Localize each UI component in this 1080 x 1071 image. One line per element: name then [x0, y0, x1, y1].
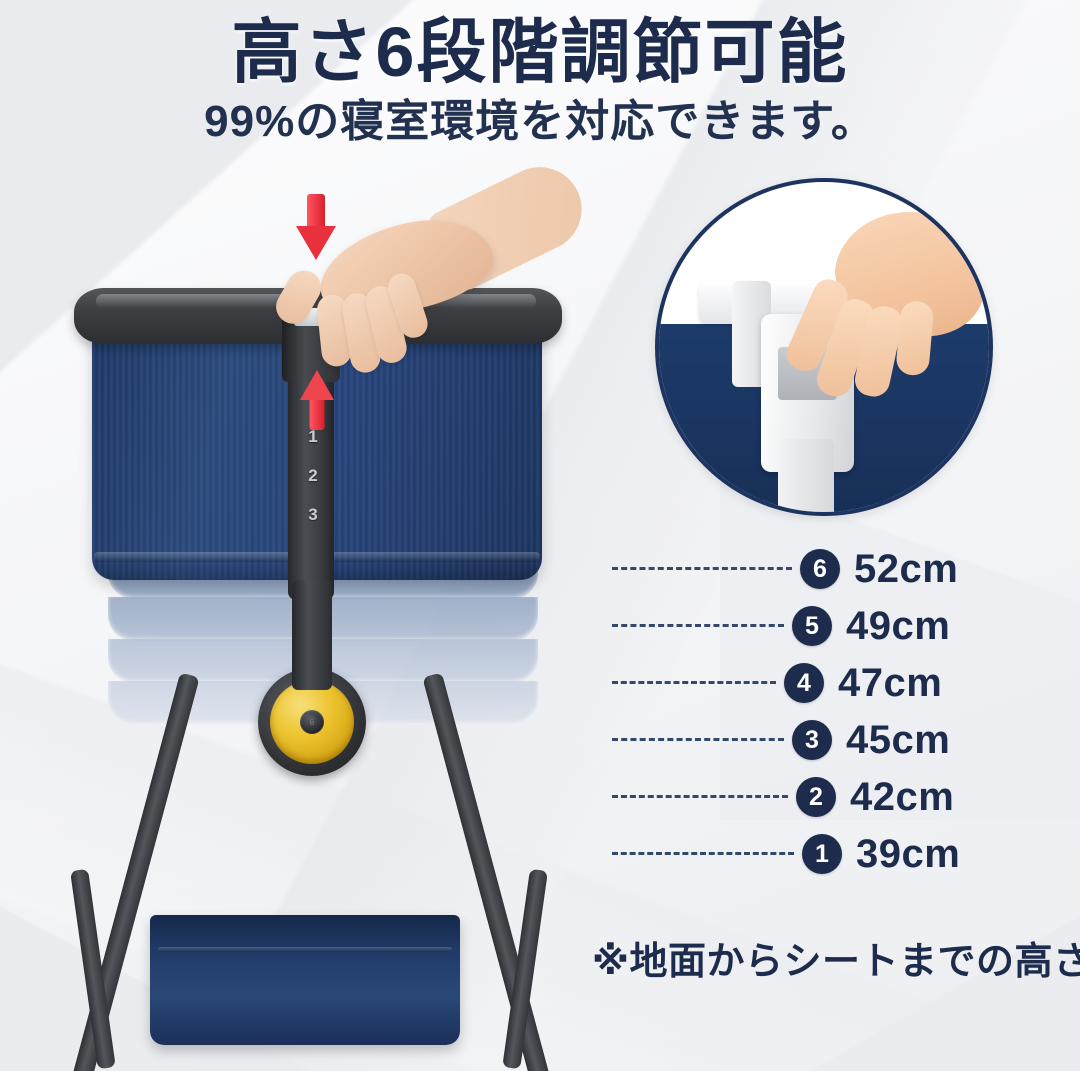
- step-badge: 5: [792, 606, 832, 646]
- measurement-row: 6 52cm: [612, 540, 1032, 597]
- step-badge: 2: [796, 777, 836, 817]
- pivot-hub-gold-disc: 6: [270, 680, 354, 764]
- height-value: 47cm: [838, 663, 942, 703]
- measurement-row: 4 47cm: [612, 654, 1032, 711]
- measurement-row: 3 45cm: [612, 711, 1032, 768]
- arrow-up-icon: [300, 370, 334, 430]
- leader-line: [612, 852, 794, 855]
- product-infographic: 高さ6段階調節可能 99%の寝室環境を対応できます。: [0, 0, 1080, 1071]
- product-photo: 1 2 3 6: [30, 180, 590, 1060]
- lever-step-marks: 1 2 3: [298, 428, 328, 545]
- step-badge: 1: [802, 834, 842, 874]
- measurement-row: 5 49cm: [612, 597, 1032, 654]
- inset-finger-pinky: [895, 300, 934, 377]
- height-measurement-list: 6 52cm 5 49cm 4 47cm 3 45cm 2 42cm 1 39c…: [612, 540, 1032, 882]
- leader-line: [612, 567, 792, 570]
- height-value: 45cm: [846, 720, 950, 760]
- arrow-up-shaft: [310, 400, 325, 430]
- leader-line: [612, 681, 776, 684]
- leader-line: [612, 795, 788, 798]
- page-title: 高さ6段階調節可能: [0, 16, 1080, 90]
- measurement-row: 2 42cm: [612, 768, 1032, 825]
- measurement-row: 1 39cm: [612, 825, 1032, 882]
- lever-mark-2: 2: [298, 467, 328, 484]
- page-subtitle: 99%の寝室環境を対応できます。: [0, 98, 1080, 146]
- leader-line: [612, 738, 784, 741]
- leader-line: [612, 624, 784, 627]
- lever-mark-3: 3: [298, 506, 328, 523]
- arrow-up-head: [300, 370, 334, 400]
- lever-mark-1: 1: [298, 428, 328, 445]
- header: 高さ6段階調節可能 99%の寝室環境を対応できます。: [0, 16, 1080, 146]
- height-value: 39cm: [856, 834, 960, 874]
- step-badge: 3: [792, 720, 832, 760]
- height-value: 42cm: [850, 777, 954, 817]
- step-badge: 4: [784, 663, 824, 703]
- height-value: 52cm: [854, 549, 958, 589]
- lower-lever-post: [292, 580, 332, 690]
- footnote: ※地面からシートまでの高さ: [592, 930, 1052, 985]
- storage-basket: [150, 915, 460, 1045]
- height-value: 49cm: [846, 606, 950, 646]
- step-badge: 6: [800, 549, 840, 589]
- pivot-hub-cap-label: 6: [300, 710, 324, 734]
- pivot-hub-center-cap: 6: [300, 710, 324, 734]
- detail-inset-photo: [655, 178, 993, 516]
- inset-lower-post: [778, 439, 834, 512]
